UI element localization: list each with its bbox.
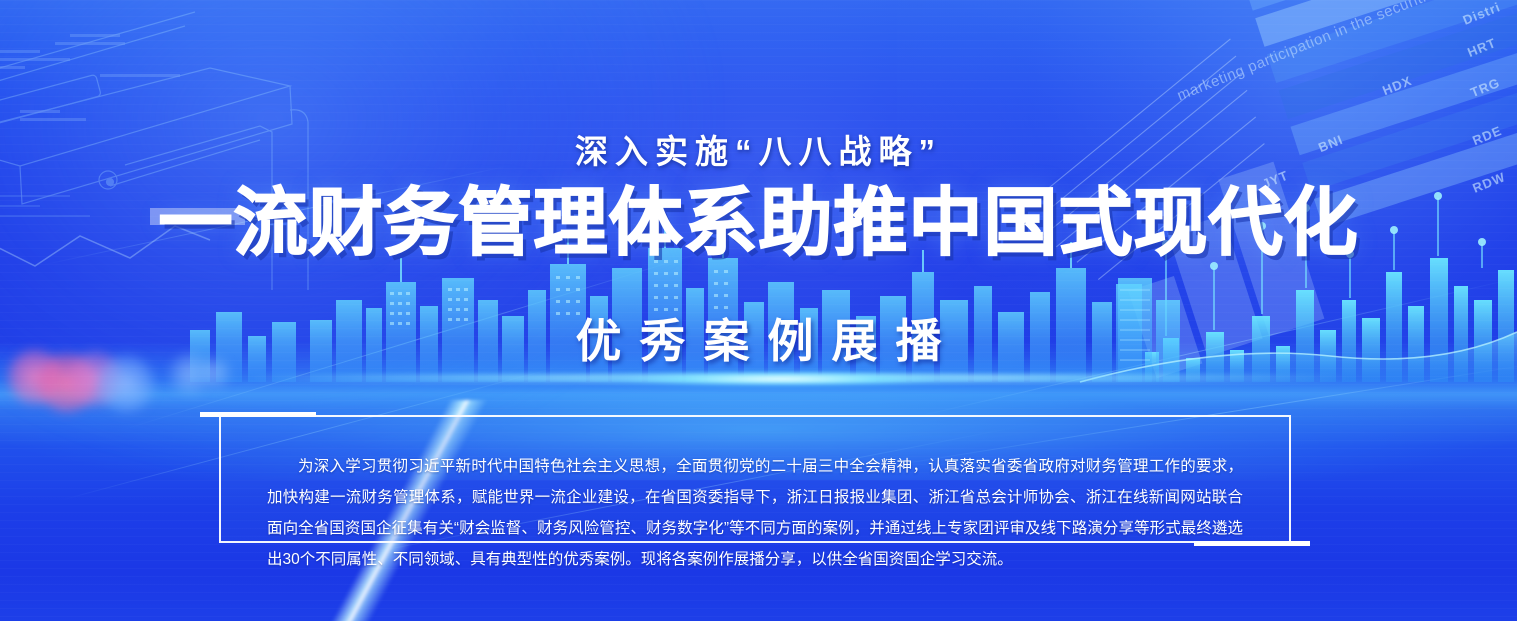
promo-banner: marketing participation in the securitie… bbox=[0, 0, 1517, 621]
banner-subtitle: 深入实施“八八战略” bbox=[0, 125, 1517, 173]
notice-paragraph: 为深入学习贯彻习近平新时代中国特色社会主义思想，全面贯彻党的二十届三中全会精神，… bbox=[267, 451, 1243, 575]
notice-frame: 为深入学习贯彻习近平新时代中国特色社会主义思想，全面贯彻党的二十届三中全会精神，… bbox=[200, 406, 1310, 552]
banner-content: 深入实施“八八战略” 一流财务管理体系助推中国式现代化 优秀案例展播 为深入学习… bbox=[0, 0, 1517, 621]
banner-subheadline: 优秀案例展播 bbox=[0, 305, 1517, 371]
banner-headline: 一流财务管理体系助推中国式现代化 bbox=[0, 186, 1517, 260]
notice-box: 为深入学习贯彻习近平新时代中国特色社会主义思想，全面贯彻党的二十届三中全会精神，… bbox=[219, 415, 1291, 543]
